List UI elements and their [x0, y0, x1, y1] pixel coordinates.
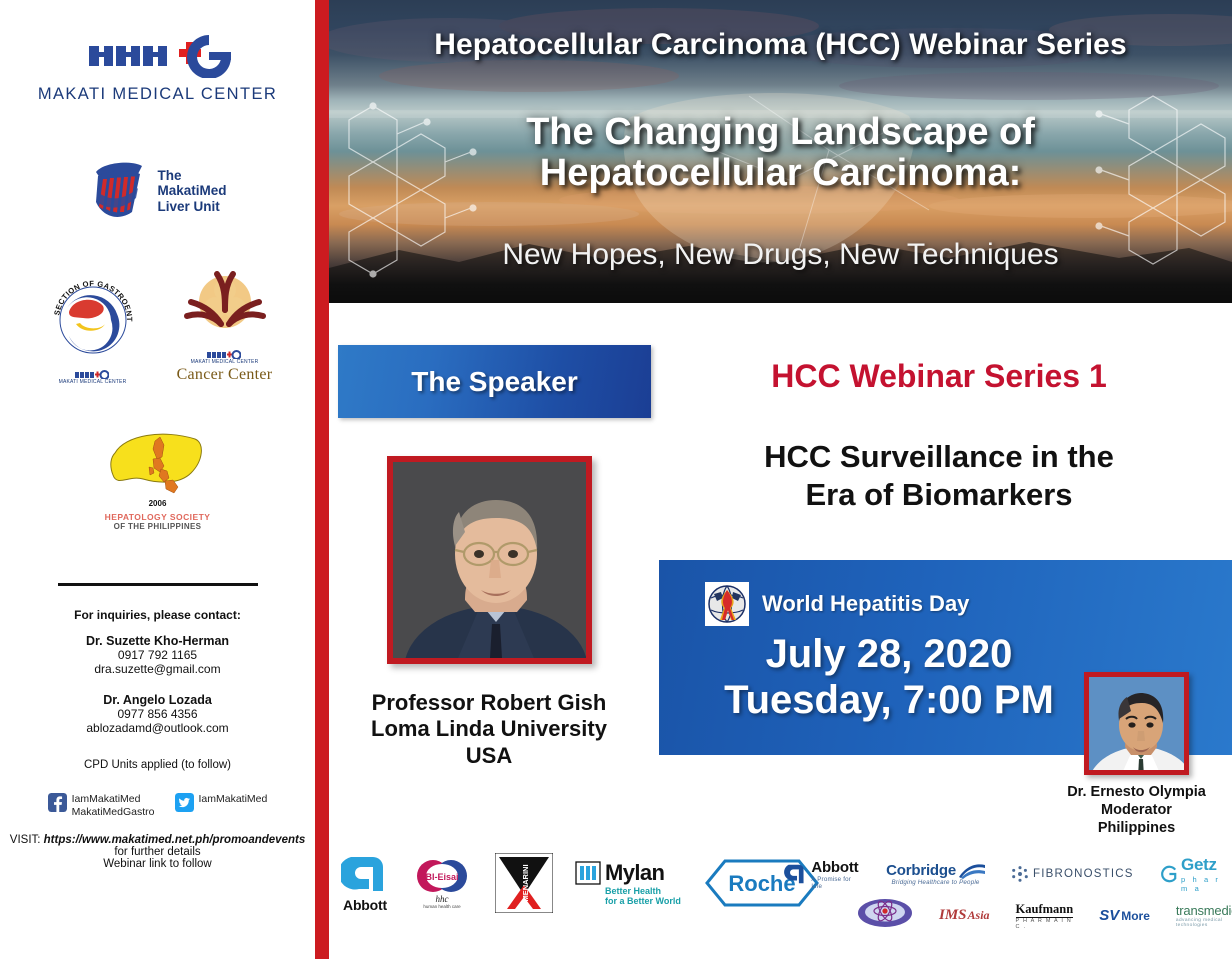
svmore-label: SV	[1099, 907, 1119, 924]
liver-unit-line1: The	[157, 168, 226, 184]
banner-title-line1: The Changing Landscape of	[329, 112, 1232, 153]
liver-unit-text: The MakatiMed Liver Unit	[157, 168, 226, 215]
visit-line2: for further details	[10, 846, 305, 858]
sponsor-ims-asia: IMS Asia	[939, 907, 990, 924]
getz-sub: p h a r m a	[1181, 875, 1232, 893]
moderator-portrait-illustration	[1089, 677, 1189, 775]
mylan-tagline-1: Better Health	[605, 886, 661, 896]
cpd-note: CPD Units applied (to follow)	[74, 759, 241, 771]
main-content: Hepatocellular Carcinoma (HCC) Webinar S…	[329, 0, 1232, 959]
contact-email[interactable]: ablozadamd@outlook.com	[74, 721, 241, 735]
banner-subtitle: New Hopes, New Drugs, New Techniques	[329, 238, 1232, 272]
talk-title-line2: Era of Biomarkers	[659, 476, 1219, 514]
ims-label: IMS	[939, 907, 967, 924]
pharma-oval-icon	[857, 898, 913, 928]
transmedic-label: transmedic	[1176, 903, 1232, 918]
twitter-handle-1: IamMakatiMed	[199, 793, 268, 806]
moderator-name: Dr. Ernesto Olympia	[1029, 783, 1232, 801]
makatimed-liver-unit-logo: The MakatiMed Liver Unit	[88, 158, 226, 224]
sponsor-abbott: Abbott	[341, 853, 389, 913]
event-date: July 28, 2020	[679, 632, 1099, 678]
speaker-name: Professor Robert Gish	[329, 690, 649, 716]
mmc-mini-icon-2	[207, 350, 241, 359]
facebook-handles: IamMakatiMed MakatiMedGastro	[72, 793, 155, 818]
abbott-icon	[341, 853, 389, 895]
speaker-caption: Professor Robert Gish Loma Linda Univers…	[329, 690, 649, 769]
kaufmann-label: Kaufmann	[1016, 902, 1074, 917]
visit-block: VISIT: https://www.makatimed.net.ph/prom…	[2, 834, 313, 870]
contact-phone: 0977 856 4356	[74, 707, 241, 721]
sponsor-menarini: MENARINI	[495, 853, 553, 913]
fibronostics-label: FIBRONOSTICS	[1033, 868, 1134, 880]
liver-unit-line2: MakatiMed	[157, 183, 226, 199]
abbott-promise-sub: A Promise for Life	[811, 876, 860, 890]
gastro-mmc-label: MAKATI MEDICAL CENTER	[59, 379, 127, 385]
talk-title-line1: HCC Surveillance in the	[659, 438, 1219, 476]
hero-banner: Hepatocellular Carcinoma (HCC) Webinar S…	[329, 0, 1232, 303]
corbridge-sub: Bridging Healthcare to People	[892, 879, 980, 886]
abbott-label: Abbott	[343, 897, 387, 913]
facebook-handle-1: IamMakatiMed	[72, 793, 155, 806]
ims-sub: Asia	[968, 908, 990, 923]
contact-email[interactable]: dra.suzette@gmail.com	[74, 662, 241, 676]
gastro-icon: SECTION OF GASTROENTEROLOGY	[43, 268, 143, 368]
cancer-center-label: Cancer Center	[177, 366, 273, 384]
corbridge-label: Corbridge	[886, 862, 956, 879]
cancer-center-logo: MAKATI MEDICAL CENTER Cancer Center	[177, 268, 273, 384]
sponsor-kaufmann: Kaufmann P H A R M A I N C .	[1016, 902, 1074, 930]
moderator-role: Moderator	[1029, 801, 1232, 819]
speaker-banner: The Speaker	[338, 345, 651, 418]
twitter-handles: IamMakatiMed	[199, 793, 268, 806]
sponsor-corbridge: Corbridge Bridging Healthcare to People	[886, 862, 985, 886]
bi-eisai-icon: BI-Eisai	[411, 858, 473, 894]
talk-title: HCC Surveillance in the Era of Biomarker…	[659, 438, 1219, 515]
banner-main-title: The Changing Landscape of Hepatocellular…	[329, 112, 1232, 194]
speaker-photo	[387, 456, 592, 664]
cancer-center-mmc-sublogo: MAKATI MEDICAL CENTER	[191, 350, 259, 365]
getz-label: Getz	[1181, 855, 1217, 875]
contact-person: Dr. Angelo Lozada 0977 856 4356 ablozada…	[74, 693, 241, 735]
world-hepatitis-day-icon	[705, 582, 749, 626]
fibronostics-icon	[1011, 865, 1029, 883]
contact-phone: 0917 792 1165	[74, 648, 241, 662]
mmc-logo-mark	[83, 34, 233, 78]
sponsor-group-secondary-bottom: IMS Asia Kaufmann P H A R M A I N C . SV…	[857, 898, 1232, 933]
contact-heading: For inquiries, please contact:	[74, 608, 241, 622]
hsp-line1: HEPATOLOGY SOCIETY	[105, 512, 211, 522]
speaker-portrait-illustration	[393, 462, 592, 664]
moderator-photo	[1084, 672, 1189, 775]
sponsor-getz-pharma: Getz p h a r m a	[1160, 855, 1232, 893]
liver-unit-icon	[88, 158, 150, 224]
gastro-mmc-sublogo: MAKATI MEDICAL CENTER	[59, 370, 127, 385]
sponsor-group-secondary-top: Abbott A Promise for Life Corbridge Brid…	[784, 855, 1232, 893]
mmc-mini-icon	[75, 370, 109, 379]
liver-unit-line3: Liver Unit	[157, 199, 226, 215]
twitter-icon[interactable]	[175, 793, 194, 812]
sponsor-fibronostics: FIBRONOSTICS	[1011, 865, 1134, 883]
hospital-name: MAKATI MEDICAL CENTER	[38, 85, 277, 104]
contact-name: Dr. Angelo Lozada	[74, 693, 241, 707]
contact-name: Dr. Suzette Kho-Herman	[74, 634, 241, 648]
abbott-promise-icon	[784, 862, 806, 886]
contact-person: Dr. Suzette Kho-Herman 0917 792 1165 dra…	[74, 634, 241, 676]
contact-block: For inquiries, please contact: Dr. Suzet…	[74, 608, 241, 771]
getz-icon	[1160, 863, 1177, 885]
cancer-center-mmc-label: MAKATI MEDICAL CENTER	[191, 359, 259, 365]
hsp-year: 2006	[149, 499, 167, 508]
cancer-center-icon	[177, 268, 273, 348]
sidebar: MAKATI MEDICAL CENTER The MakatiMed Liv	[0, 0, 315, 959]
event-datetime: July 28, 2020 Tuesday, 7:00 PM	[679, 632, 1099, 723]
svmore-sub: More	[1121, 909, 1150, 923]
makati-medical-center-logo: MAKATI MEDICAL CENTER	[38, 34, 277, 104]
abbott-promise-label: Abbott	[811, 859, 858, 876]
svg-text:BI-Eisai: BI-Eisai	[425, 872, 458, 882]
department-logos-row: SECTION OF GASTROENTEROLOGY MAKATI MEDIC…	[0, 268, 315, 385]
section-of-gastroenterology-logo: SECTION OF GASTROENTEROLOGY MAKATI MEDIC…	[43, 268, 143, 385]
sponsor-mylan: Mylan Better Health for a Better World	[575, 860, 681, 906]
mylan-icon	[575, 861, 601, 885]
visit-line: VISIT: https://www.makatimed.net.ph/prom…	[10, 834, 305, 846]
sponsor-strip: Abbott BI-Eisai hhc human health care	[329, 853, 1232, 953]
sponsor-pharma-oval	[857, 898, 913, 933]
mylan-tagline-2: for a Better World	[605, 896, 681, 906]
moderator-caption: Dr. Ernesto Olympia Moderator Philippine…	[1029, 783, 1232, 837]
speaker-affiliation: Loma Linda University	[329, 716, 649, 742]
sponsor-bi-eisai: BI-Eisai hhc human health care	[411, 858, 473, 909]
speaker-country: USA	[329, 743, 649, 769]
menarini-icon: MENARINI	[495, 853, 553, 913]
hepatology-society-logo: 2006 HEPATOLOGY SOCIETY OF THE PHILIPPIN…	[103, 427, 213, 531]
sponsor-abbott-promise: Abbott A Promise for Life	[784, 859, 860, 890]
red-divider-bar	[315, 0, 329, 959]
event-time: Tuesday, 7:00 PM	[679, 678, 1099, 724]
sponsor-sv-more: SV More	[1099, 907, 1150, 924]
banner-title-line2: Hepatocellular Carcinoma:	[329, 153, 1232, 194]
bi-eisai-sub: hhc	[436, 894, 449, 904]
hepatology-liver-icon	[103, 427, 213, 505]
banner-series-label: Hepatocellular Carcinoma (HCC) Webinar S…	[329, 28, 1232, 62]
corbridge-bridge-icon	[959, 863, 985, 879]
svg-text:MENARINI: MENARINI	[521, 864, 530, 901]
moderator-country: Philippines	[1029, 819, 1232, 837]
sidebar-divider	[58, 583, 258, 586]
visit-prefix: VISIT:	[10, 834, 44, 846]
facebook-icon[interactable]	[48, 793, 67, 812]
transmedic-sub: advancing medical technologies	[1176, 918, 1232, 928]
visit-url[interactable]: https://www.makatimed.net.ph/promoandeve…	[44, 834, 306, 846]
facebook-link[interactable]: IamMakatiMed MakatiMedGastro	[48, 793, 155, 818]
series-number: HCC Webinar Series 1	[659, 358, 1219, 395]
visit-line3: Webinar link to follow	[10, 858, 305, 870]
bi-eisai-sub2: human health care	[423, 904, 460, 909]
campaign-label: World Hepatitis Day	[762, 591, 969, 617]
sponsor-transmedic: transmedic advancing medical technologie…	[1176, 903, 1232, 928]
social-links: IamMakatiMed MakatiMedGastro IamMakatiMe…	[48, 793, 268, 818]
facebook-handle-2: MakatiMedGastro	[72, 806, 155, 819]
contact-spacer	[74, 676, 241, 693]
speaker-banner-label: The Speaker	[411, 366, 578, 398]
twitter-link[interactable]: IamMakatiMed	[175, 793, 268, 812]
sponsor-group-main: Abbott BI-Eisai hhc human health care	[341, 853, 821, 913]
kaufmann-sub: P H A R M A I N C .	[1016, 918, 1074, 930]
hsp-line2: OF THE PHILIPPINES	[114, 522, 202, 531]
world-hepatitis-day-block: World Hepatitis Day	[705, 582, 969, 626]
webinar-poster: MAKATI MEDICAL CENTER The MakatiMed Liv	[0, 0, 1232, 959]
mylan-label: Mylan	[605, 860, 664, 886]
